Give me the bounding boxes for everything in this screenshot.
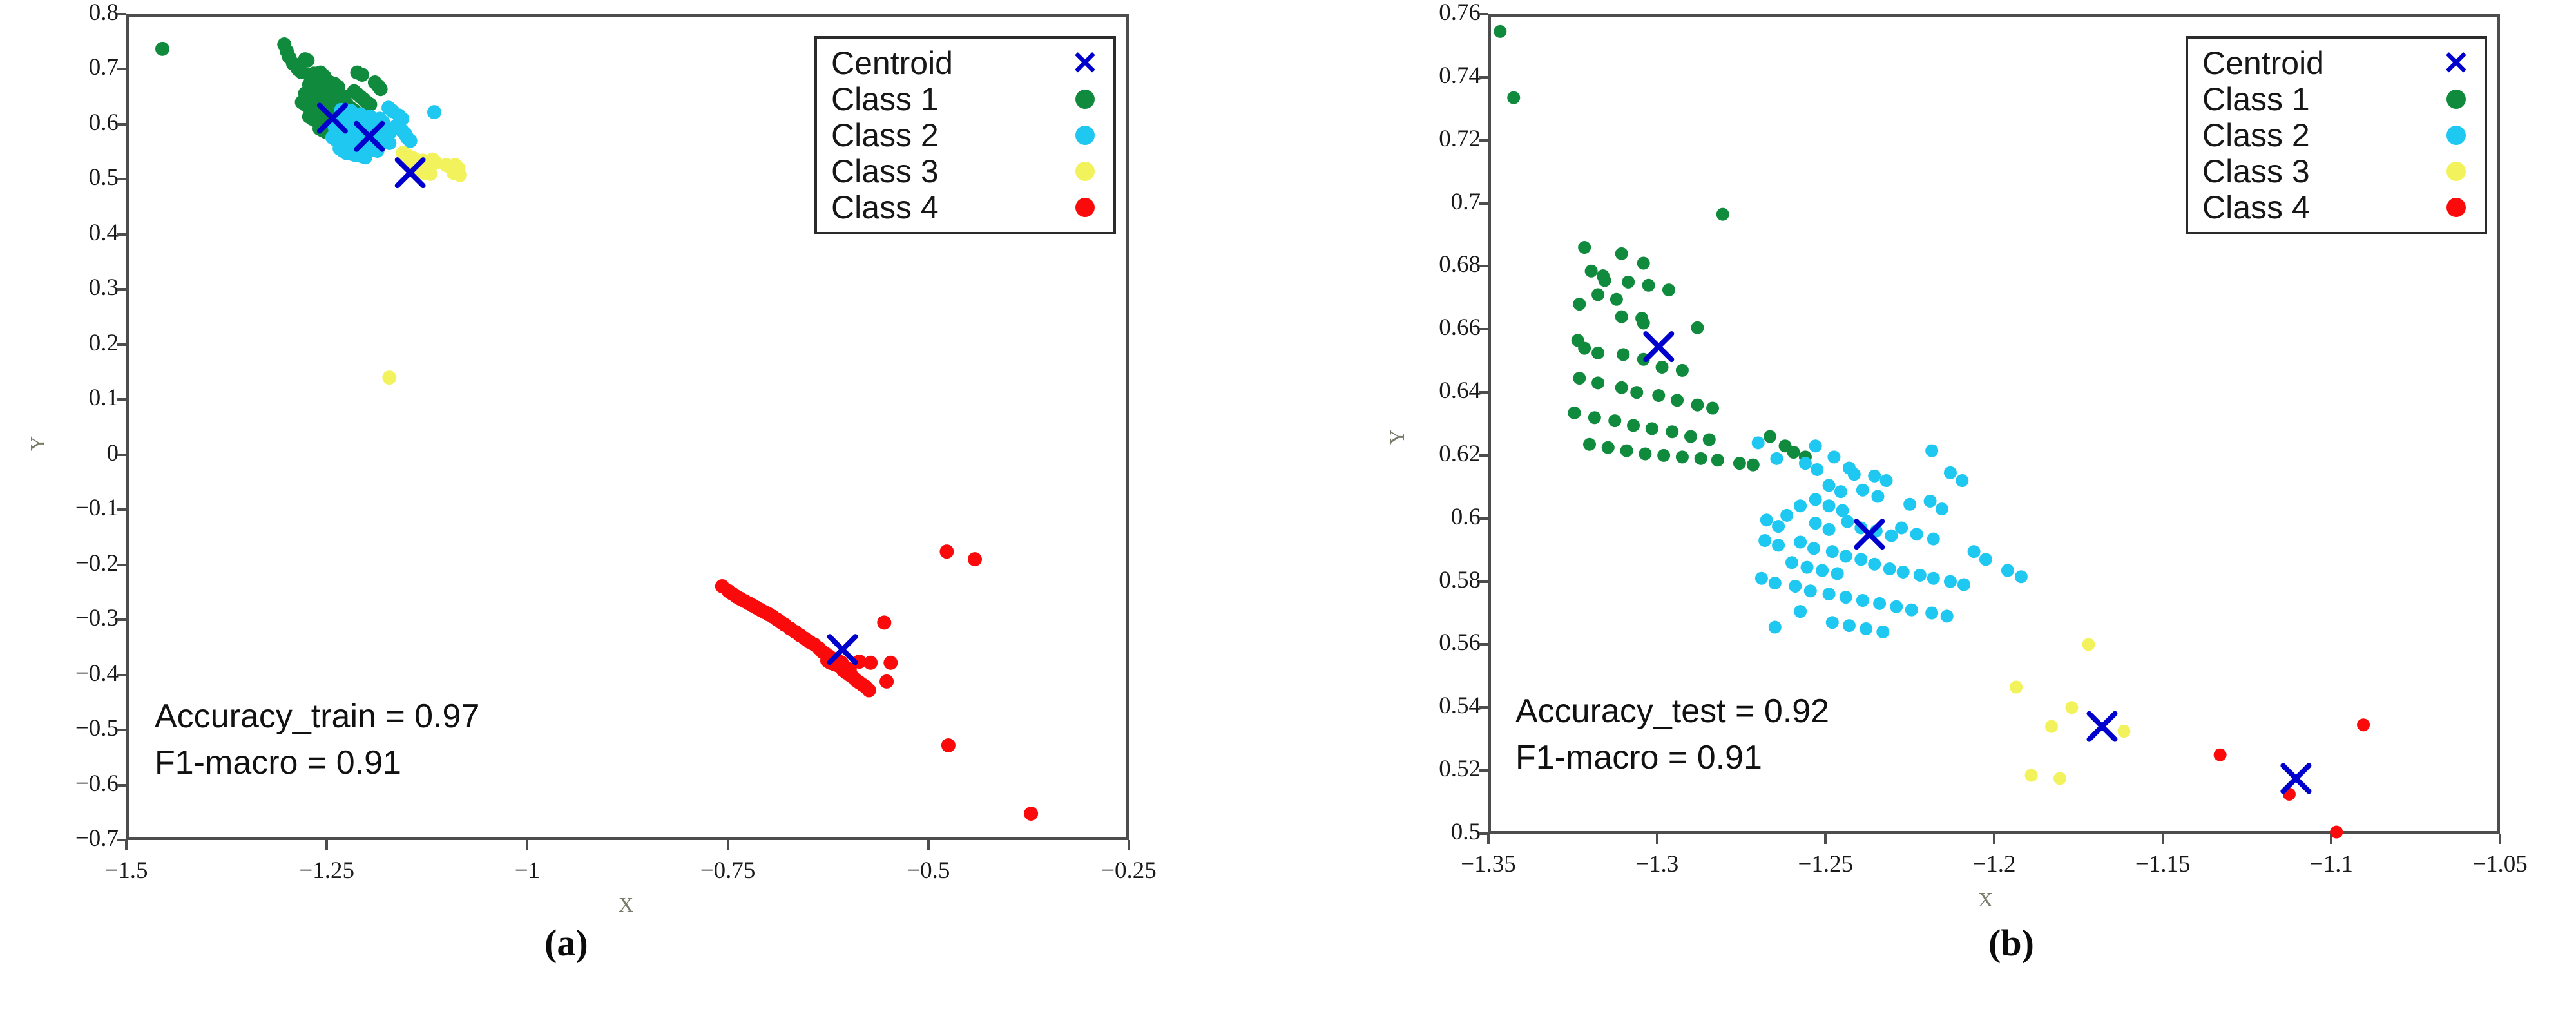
data-point	[1758, 534, 1771, 547]
legend-item-label: Class 3	[831, 153, 939, 190]
data-point	[2025, 769, 2038, 781]
data-point	[1876, 626, 1889, 638]
annotation-accuracy-a: Accuracy_train = 0.97	[155, 696, 479, 738]
data-point	[1979, 553, 1992, 566]
x-tick-label: −1.5	[55, 857, 197, 885]
data-point	[877, 615, 891, 629]
legend-item-class-1[interactable]: Class 1	[831, 81, 1102, 117]
data-point	[1622, 276, 1635, 289]
data-point	[1890, 600, 1903, 613]
legend-dot-icon	[1068, 90, 1102, 109]
data-point	[879, 674, 894, 689]
x-tick-mark	[526, 840, 528, 850]
data-point	[1591, 376, 1604, 389]
data-point	[1578, 342, 1591, 355]
data-point	[1897, 566, 1910, 579]
data-point	[1637, 316, 1650, 329]
y-tick-mark	[1479, 202, 1488, 205]
data-point	[1630, 386, 1643, 399]
data-point	[1843, 619, 1856, 632]
data-point	[1620, 445, 1633, 457]
data-point	[1956, 474, 1968, 487]
panel-b: 0.760.740.720.70.680.660.640.620.60.580.…	[1334, 0, 2576, 1014]
x-axis-title-a: X	[619, 893, 633, 917]
y-tick-label: 0.6	[1384, 503, 1481, 531]
data-point	[2053, 772, 2066, 785]
series-class-4	[715, 544, 1038, 821]
y-tick-label: −0.2	[22, 550, 119, 577]
centroid-x-icon: ✕	[2439, 47, 2473, 79]
x-tick-label: −0.25	[1058, 857, 1200, 885]
x-tick-label: −1.25	[256, 857, 398, 885]
x-tick-label: −1.1	[2260, 850, 2402, 878]
data-point	[1883, 562, 1896, 575]
data-point	[1968, 545, 1981, 558]
y-tick-mark	[1479, 139, 1488, 142]
data-point	[1823, 499, 1836, 512]
x-tick-mark	[1487, 834, 1490, 844]
y-tick-mark	[117, 784, 126, 787]
legend-item-label: Class 4	[2202, 189, 2310, 226]
data-point	[1573, 298, 1586, 311]
legend-item-class-1[interactable]: Class 1	[2202, 81, 2473, 117]
y-tick-label: 0.54	[1384, 692, 1481, 720]
y-tick-label: −0.6	[22, 770, 119, 798]
legend-dot-icon	[1068, 126, 1102, 145]
data-point	[1591, 347, 1604, 359]
legend-item-label: Class 1	[2202, 81, 2310, 118]
y-tick-label: 0.4	[22, 219, 119, 247]
legend-b: Centroid✕Class 1Class 2Class 3Class 4	[2186, 36, 2487, 234]
y-tick-label: 0.6	[22, 109, 119, 137]
x-tick-label: −1	[456, 857, 598, 885]
y-tick-mark	[117, 564, 126, 566]
y-tick-mark	[117, 729, 126, 731]
data-point	[1583, 438, 1596, 451]
data-point	[1602, 441, 1615, 454]
data-point	[1840, 591, 1852, 604]
data-point	[1769, 577, 1782, 589]
data-point	[1826, 545, 1839, 558]
data-point	[358, 150, 372, 164]
data-point	[1615, 381, 1628, 394]
x-axis-title-b: X	[1978, 888, 1993, 912]
y-tick-mark	[117, 343, 126, 346]
y-tick-label: −0.4	[22, 660, 119, 687]
y-tick-mark	[117, 454, 126, 456]
y-tick-label: −0.7	[22, 825, 119, 852]
y-tick-label: 0.52	[1384, 755, 1481, 783]
y-tick-mark	[117, 618, 126, 621]
legend-item-label: Centroid	[831, 44, 953, 82]
legend-item-label: Class 2	[831, 117, 939, 154]
legend-item-label: Class 3	[2202, 153, 2310, 190]
data-point	[2045, 720, 2058, 733]
x-tick-label: −1.05	[2429, 850, 2571, 878]
data-point	[1927, 533, 1940, 546]
data-point	[1789, 580, 1802, 593]
data-point	[1639, 447, 1651, 460]
y-tick-mark	[1479, 580, 1488, 583]
x-tick-mark	[727, 840, 729, 850]
data-point	[1752, 436, 1765, 449]
y-tick-label: 0.68	[1384, 251, 1481, 278]
data-point	[1684, 430, 1697, 443]
y-tick-label: −0.1	[22, 494, 119, 522]
data-point	[1925, 445, 1938, 457]
subfigure-caption-b: (b)	[1988, 921, 2034, 964]
data-point	[2015, 570, 2028, 583]
data-point	[1794, 605, 1807, 618]
y-tick-label: 0.72	[1384, 125, 1481, 153]
x-tick-mark	[125, 840, 128, 850]
annotation-f1-b: F1-macro = 0.91	[1515, 737, 1762, 779]
x-tick-mark	[927, 840, 930, 850]
x-tick-mark	[2330, 834, 2332, 844]
series-class-3	[382, 146, 467, 385]
legend-dot-icon	[2439, 198, 2473, 217]
x-tick-label: −1.3	[1586, 850, 1728, 878]
data-point	[1646, 422, 1658, 435]
y-tick-label: 0.8	[22, 0, 119, 26]
data-point	[1662, 283, 1675, 296]
series-class-3	[2010, 638, 2130, 785]
y-tick-label: 0.5	[1384, 818, 1481, 846]
legend-item-class-4[interactable]: Class 4	[2202, 189, 2473, 225]
data-point	[1848, 468, 1861, 481]
data-point	[1657, 449, 1670, 462]
x-tick-mark	[2162, 834, 2164, 844]
data-point	[1627, 419, 1640, 432]
data-point	[1910, 528, 1923, 540]
y-tick-label: −0.5	[22, 714, 119, 742]
x-tick-mark	[325, 840, 328, 850]
y-tick-mark	[1479, 13, 1488, 15]
data-point	[1823, 588, 1836, 600]
y-tick-mark	[1479, 643, 1488, 646]
centroid-x-icon: ✕	[1068, 47, 1102, 79]
data-point	[1827, 450, 1840, 463]
y-axis-title-a: Y	[26, 436, 50, 451]
data-point	[1868, 558, 1881, 571]
data-point	[1652, 389, 1665, 402]
data-point	[1823, 479, 1836, 492]
data-point	[941, 738, 956, 752]
centroid-marker	[1646, 334, 1671, 359]
y-tick-label: 0.7	[22, 53, 119, 81]
data-point	[1711, 454, 1724, 466]
data-point	[1507, 91, 1520, 104]
data-point	[1494, 25, 1506, 38]
data-point	[382, 370, 396, 385]
data-point	[1591, 288, 1604, 301]
y-tick-label: 0.5	[22, 164, 119, 191]
data-point	[1914, 569, 1927, 582]
legend-item-class-2[interactable]: Class 2	[2202, 117, 2473, 153]
x-tick-mark	[2499, 834, 2501, 844]
data-point	[1809, 439, 1822, 452]
data-point	[1769, 621, 1782, 634]
data-point	[1599, 274, 1611, 287]
data-point	[1941, 609, 1954, 622]
y-tick-label: −0.3	[22, 604, 119, 632]
data-point	[1573, 372, 1586, 385]
subfigure-caption-a: (a)	[544, 921, 588, 964]
data-point	[1760, 513, 1773, 526]
y-tick-mark	[1479, 454, 1488, 457]
data-point	[1615, 311, 1628, 323]
data-point	[1706, 402, 1719, 415]
data-point	[2357, 718, 2370, 731]
plot-b: 0.760.740.720.70.680.660.640.620.60.580.…	[1334, 0, 2576, 863]
data-point	[1836, 504, 1849, 517]
data-point	[1747, 459, 1760, 472]
data-point	[1772, 539, 1785, 551]
data-point	[1905, 604, 1918, 617]
data-point	[1691, 321, 1704, 334]
data-point	[1716, 208, 1729, 221]
data-point	[1585, 265, 1598, 278]
data-point	[1856, 484, 1869, 497]
data-point	[1671, 394, 1684, 407]
data-point	[1787, 446, 1800, 459]
data-point	[1608, 414, 1621, 427]
figure-root: 0.80.70.60.50.40.30.20.10−0.1−0.2−0.3−0.…	[0, 0, 2576, 1014]
data-point	[1755, 572, 1768, 585]
legend-item-class-3[interactable]: Class 3	[2202, 153, 2473, 189]
x-tick-label: −0.5	[858, 857, 999, 885]
centroid-marker	[2283, 765, 2309, 791]
legend-item-class-2[interactable]: Class 2	[831, 117, 1102, 153]
panel-a: 0.80.70.60.50.40.30.20.10−0.1−0.2−0.3−0.…	[0, 0, 1263, 1014]
legend-dot-icon	[2439, 126, 2473, 145]
y-tick-mark	[117, 508, 126, 511]
data-point	[1826, 616, 1839, 629]
data-point	[1885, 530, 1898, 542]
data-point	[1841, 515, 1854, 528]
x-tick-mark	[1993, 834, 1995, 844]
data-point	[1780, 509, 1793, 522]
y-tick-mark	[117, 178, 126, 180]
data-point	[1764, 430, 1776, 443]
legend-item-label: Centroid	[2202, 44, 2324, 82]
data-point	[1809, 493, 1822, 506]
legend-item-label: Class 2	[2202, 117, 2310, 154]
x-tick-label: −1.2	[1923, 850, 2065, 878]
data-point	[1856, 594, 1869, 607]
data-point	[1666, 425, 1678, 438]
y-tick-mark	[1479, 328, 1488, 330]
y-tick-label: 0.76	[1384, 0, 1481, 26]
legend-dot-icon	[1068, 198, 1102, 217]
legend-item-class-3[interactable]: Class 3	[831, 153, 1102, 189]
data-point	[1794, 535, 1807, 548]
y-tick-mark	[1479, 706, 1488, 709]
data-point	[1772, 520, 1785, 533]
data-point	[1957, 579, 1970, 591]
data-point	[863, 656, 878, 670]
data-point	[2117, 725, 2130, 738]
data-point	[1794, 499, 1807, 512]
data-point	[1656, 361, 1669, 374]
data-point	[1615, 247, 1628, 260]
data-point	[1588, 411, 1601, 424]
data-point	[1925, 607, 1938, 620]
data-point	[1854, 553, 1867, 566]
data-point	[1785, 556, 1798, 569]
data-point	[1840, 550, 1852, 562]
data-point	[355, 68, 369, 82]
data-point	[155, 42, 169, 56]
y-tick-mark	[117, 68, 126, 70]
y-tick-mark	[117, 288, 126, 291]
y-tick-label: 0.7	[1384, 188, 1481, 216]
data-point	[2214, 749, 2227, 761]
data-point	[1868, 470, 1881, 483]
y-tick-mark	[1479, 391, 1488, 394]
centroid-marker	[2089, 714, 2115, 740]
y-tick-mark	[1479, 517, 1488, 520]
data-point	[883, 656, 898, 670]
data-point	[1895, 521, 1908, 534]
data-point	[1676, 450, 1689, 463]
y-tick-mark	[117, 233, 126, 236]
data-point	[1804, 584, 1817, 597]
y-tick-label: 0.2	[22, 329, 119, 357]
data-point	[1811, 463, 1823, 476]
legend-a: Centroid✕Class 1Class 2Class 3Class 4	[814, 36, 1116, 234]
x-tick-label: −1.25	[1754, 850, 1896, 878]
data-point	[1568, 407, 1581, 419]
y-tick-label: 0.66	[1384, 314, 1481, 341]
data-point	[453, 168, 467, 182]
legend-item-label: Class 4	[831, 189, 939, 226]
series-class-2	[1752, 436, 2028, 638]
data-point	[968, 552, 982, 566]
data-point	[1024, 807, 1038, 821]
legend-item-centroid[interactable]: Centroid✕	[831, 45, 1102, 81]
data-point	[1617, 348, 1629, 361]
data-point	[1770, 452, 1783, 465]
legend-item-label: Class 1	[831, 81, 939, 118]
data-point	[1927, 572, 1940, 585]
data-point	[939, 544, 954, 559]
series-class-4	[2214, 718, 2370, 838]
y-tick-mark	[117, 674, 126, 676]
annotation-f1-a: F1-macro = 0.91	[155, 742, 401, 784]
y-tick-label: 0.56	[1384, 629, 1481, 656]
legend-dot-icon	[2439, 90, 2473, 109]
y-tick-label: 0.58	[1384, 566, 1481, 594]
y-tick-mark	[1479, 76, 1488, 79]
data-point	[1871, 490, 1884, 503]
legend-item-class-4[interactable]: Class 4	[831, 189, 1102, 225]
data-point	[1695, 452, 1707, 465]
data-point	[1578, 241, 1591, 254]
y-axis-title-b: Y	[1385, 430, 1409, 445]
x-tick-label: −0.75	[657, 857, 799, 885]
series-class-1	[1494, 25, 1812, 472]
data-point	[1691, 399, 1704, 412]
data-point	[1936, 502, 1948, 515]
data-point	[1676, 364, 1689, 377]
data-point	[1637, 256, 1650, 269]
data-point	[427, 105, 441, 119]
y-tick-mark	[1479, 265, 1488, 267]
data-point	[2082, 638, 2095, 651]
data-point	[1831, 567, 1844, 580]
annotation-accuracy-b: Accuracy_test = 0.92	[1515, 691, 1829, 732]
y-tick-label: 0.3	[22, 274, 119, 301]
data-point	[2010, 681, 2023, 694]
data-point	[1642, 279, 1655, 292]
x-tick-label: −1.15	[2092, 850, 2234, 878]
data-point	[1944, 575, 1957, 588]
y-tick-label: 0.64	[1384, 377, 1481, 405]
y-tick-mark	[117, 398, 126, 401]
data-point	[1801, 561, 1814, 574]
data-point	[1924, 495, 1937, 508]
data-point	[403, 134, 418, 148]
x-tick-mark	[1128, 840, 1130, 850]
data-point	[1823, 523, 1836, 536]
data-point	[862, 684, 876, 698]
plot-a: 0.80.70.60.50.40.30.20.10−0.1−0.2−0.3−0.…	[0, 0, 1263, 863]
x-tick-label: −1.35	[1418, 850, 1559, 878]
legend-dot-icon	[1068, 162, 1102, 181]
series-centroid	[320, 106, 856, 663]
data-point	[1610, 293, 1623, 306]
y-tick-label: 0.1	[22, 384, 119, 412]
data-point	[2065, 701, 2078, 714]
data-point	[1860, 622, 1872, 635]
x-tick-mark	[1656, 834, 1658, 844]
data-point	[1807, 542, 1820, 555]
data-point	[1834, 485, 1847, 498]
data-point	[1873, 597, 1886, 610]
data-point	[1733, 457, 1746, 470]
legend-item-centroid[interactable]: Centroid✕	[2202, 45, 2473, 81]
y-tick-mark	[1479, 769, 1488, 772]
data-point	[2001, 564, 2014, 577]
data-point	[1809, 517, 1822, 530]
data-point	[1944, 466, 1957, 479]
data-point	[1799, 457, 1812, 470]
y-tick-label: 0.74	[1384, 62, 1481, 90]
data-point	[1880, 474, 1893, 487]
legend-dot-icon	[2439, 162, 2473, 181]
x-tick-mark	[1824, 834, 1827, 844]
data-point	[1903, 498, 1916, 511]
data-point	[1703, 433, 1716, 446]
y-tick-mark	[117, 123, 126, 126]
data-point	[374, 82, 388, 96]
y-tick-mark	[117, 13, 126, 15]
data-point	[1816, 564, 1829, 577]
